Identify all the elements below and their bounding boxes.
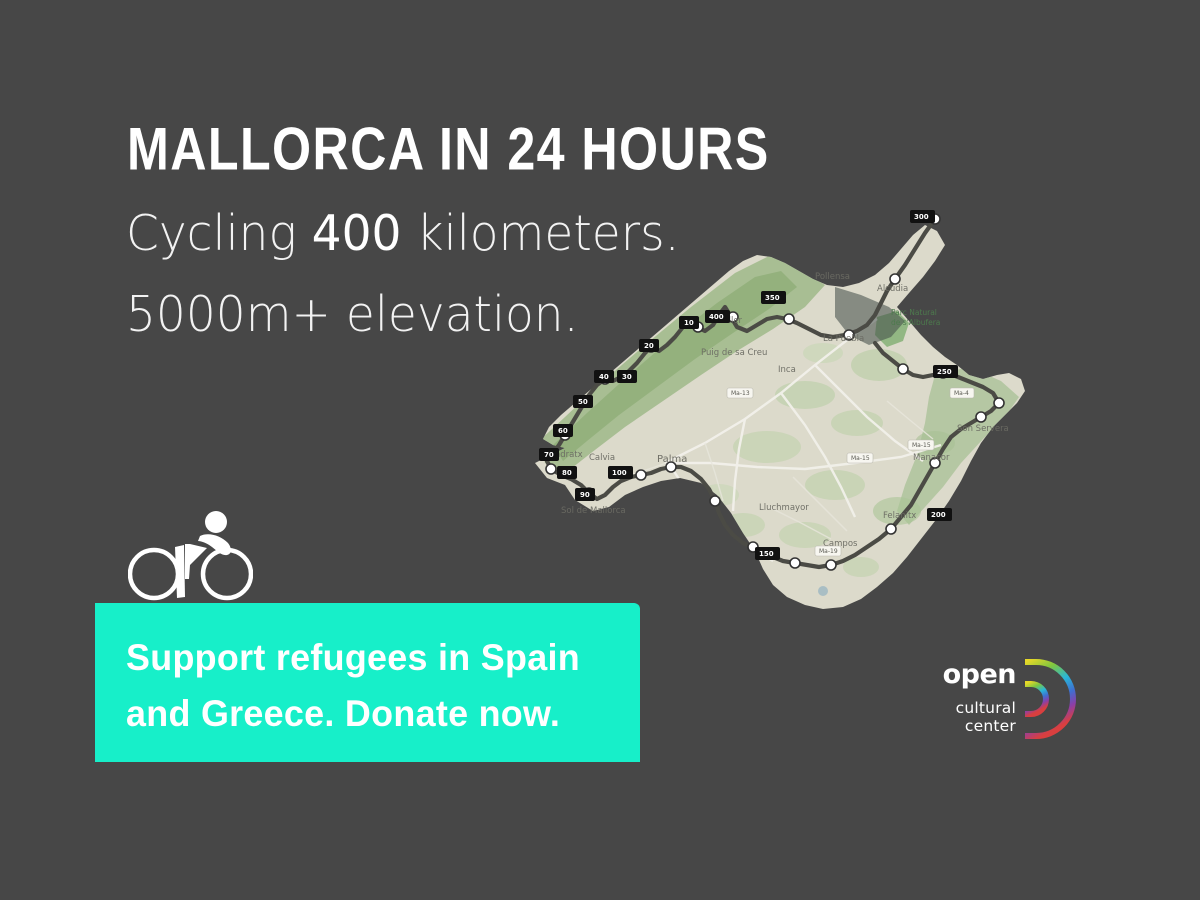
place-label: Lluchmayor: [759, 503, 809, 513]
place-label: La Puebla: [823, 334, 864, 344]
distance-value: 400: [312, 205, 402, 262]
page-title: MALLORCA IN 24 HOURS: [127, 117, 770, 182]
distance-marker: 40: [599, 373, 609, 381]
road-shield: Ma-19: [819, 548, 838, 555]
distance-marker: 70: [544, 451, 554, 459]
place-label: Alcudia: [877, 284, 908, 294]
place-label: Puig de sa Creu: [701, 348, 767, 358]
logo-name-secondary-line1: cultural: [930, 699, 1016, 717]
mallorca-route-map: Palma Inca La Puebla Pollensa Alcudia Ma…: [505, 195, 1075, 655]
logo-text: open cultural center: [930, 660, 1016, 735]
distance-marker: 80: [562, 469, 572, 477]
distance-marker: 50: [578, 398, 588, 406]
subtitle-prefix: Cycling: [126, 205, 312, 262]
place-label: Pollensa: [815, 272, 850, 282]
distance-marker: 60: [558, 427, 568, 435]
distance-marker: 250: [937, 368, 952, 376]
poster-canvas: Palma Inca La Puebla Pollensa Alcudia Ma…: [0, 0, 1200, 900]
place-label: Sol de Mallorca: [561, 506, 626, 516]
place-label: Manacor: [913, 453, 950, 463]
cyclist-icon: [128, 505, 253, 605]
place-label: Palma: [657, 454, 687, 465]
banner-line-1: Support refugees in Spain: [126, 630, 625, 686]
road-shield: Ma-15: [912, 442, 931, 449]
distance-marker: 350: [765, 294, 780, 302]
subtitle-line-2: 5000m+ elevation.: [126, 288, 579, 341]
place-label: Felanitx: [883, 511, 916, 521]
place-label: Son Servera: [957, 424, 1009, 434]
subtitle-line-1: Cycling 400 kilometers.: [126, 207, 680, 260]
distance-marker: 10: [684, 319, 694, 327]
place-label: Calvia: [589, 453, 615, 463]
distance-marker: 150: [759, 550, 774, 558]
distance-marker: 400: [709, 313, 724, 321]
distance-marker: 90: [580, 491, 590, 499]
road-shield: Ma-15: [851, 455, 870, 462]
place-label: Inca: [778, 365, 796, 375]
park-label-line1: Parc Natural: [891, 308, 937, 317]
road-shield: Ma-13: [731, 390, 750, 397]
subtitle-suffix: kilometers.: [401, 205, 679, 262]
logo-arc-mark-icon: [1018, 658, 1076, 740]
banner-line-2: and Greece. Donate now.: [126, 686, 625, 742]
logo-name-primary: open: [930, 660, 1016, 689]
distance-marker: 20: [644, 342, 654, 350]
road-shield: Ma-4: [954, 390, 969, 397]
open-cultural-center-logo[interactable]: open cultural center: [930, 660, 1075, 742]
distance-marker: 200: [931, 511, 946, 519]
donate-banner[interactable]: Support refugees in Spain and Greece. Do…: [95, 603, 640, 762]
logo-name-secondary-line2: center: [930, 717, 1016, 735]
distance-marker: 300: [914, 213, 929, 221]
park-label-line2: de s'Albufera: [891, 318, 940, 327]
distance-marker: 30: [622, 373, 632, 381]
distance-marker: 100: [612, 469, 627, 477]
